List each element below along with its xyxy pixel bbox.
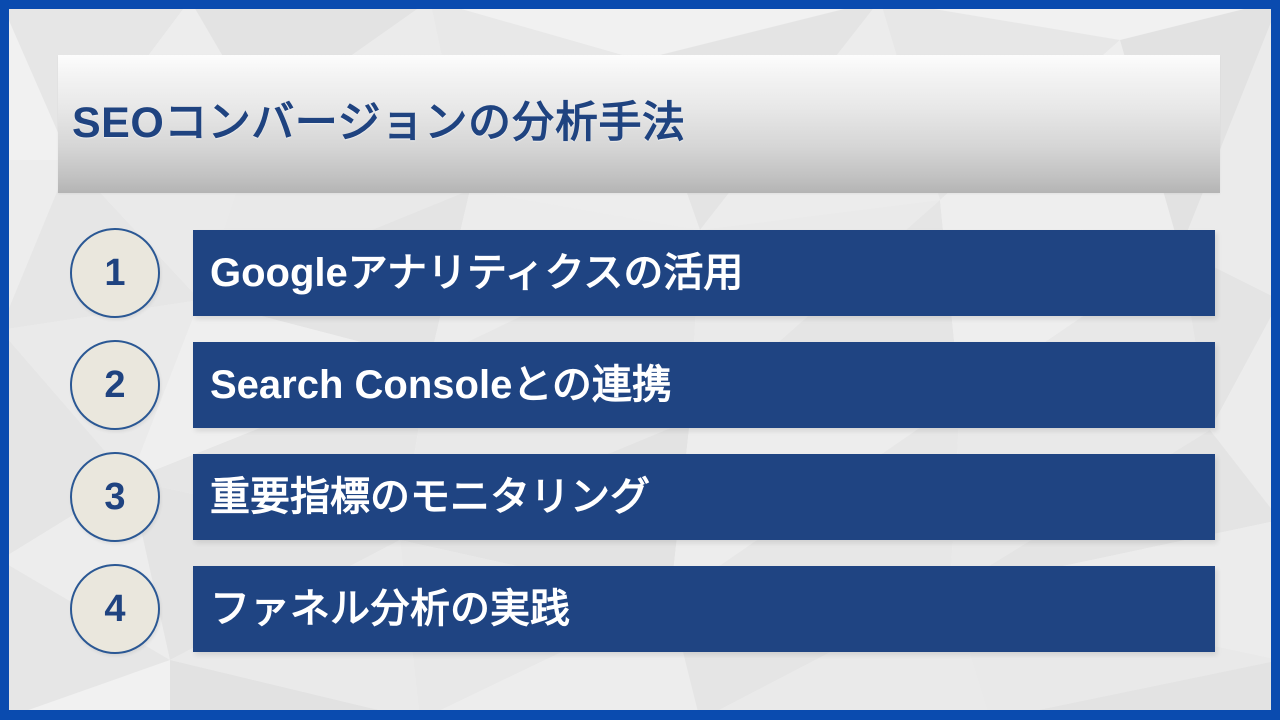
list-item-number-badge: 2 xyxy=(70,340,160,430)
page-title: SEOコンバージョンの分析手法 xyxy=(72,100,685,147)
list-item-bar[interactable]: ファネル分析の実践 xyxy=(193,566,1215,652)
list-item[interactable]: 3 重要指標のモニタリング xyxy=(0,454,1280,540)
list-item-label: ファネル分析の実践 xyxy=(210,587,570,631)
list-item-number: 3 xyxy=(104,478,125,516)
slide-title-band: SEOコンバージョンの分析手法 xyxy=(58,55,1220,193)
list-item-number: 1 xyxy=(104,254,125,292)
list-item-number: 2 xyxy=(104,366,125,404)
list-item-number-badge: 3 xyxy=(70,452,160,542)
frame-border-top xyxy=(0,0,1280,9)
slide: SEOコンバージョンの分析手法 1 Googleアナリティクスの活用 2 Sea… xyxy=(0,0,1280,720)
list-item[interactable]: 2 Search Consoleとの連携 xyxy=(0,342,1280,428)
list-item-bar[interactable]: 重要指標のモニタリング xyxy=(193,454,1215,540)
list-item-number-badge: 4 xyxy=(70,564,160,654)
list-item[interactable]: 4 ファネル分析の実践 xyxy=(0,566,1280,652)
list-item-label: Googleアナリティクスの活用 xyxy=(210,251,743,295)
list-item-label: Search Consoleとの連携 xyxy=(210,363,672,407)
frame-border-right xyxy=(1271,0,1280,720)
list-item[interactable]: 1 Googleアナリティクスの活用 xyxy=(0,230,1280,316)
numbered-list: 1 Googleアナリティクスの活用 2 Search Consoleとの連携 … xyxy=(0,230,1280,678)
list-item-number: 4 xyxy=(104,590,125,628)
frame-border-left xyxy=(0,0,9,720)
list-item-label: 重要指標のモニタリング xyxy=(210,475,650,519)
list-item-bar[interactable]: Googleアナリティクスの活用 xyxy=(193,230,1215,316)
list-item-number-badge: 1 xyxy=(70,228,160,318)
frame-border-bottom xyxy=(0,710,1280,720)
list-item-bar[interactable]: Search Consoleとの連携 xyxy=(193,342,1215,428)
